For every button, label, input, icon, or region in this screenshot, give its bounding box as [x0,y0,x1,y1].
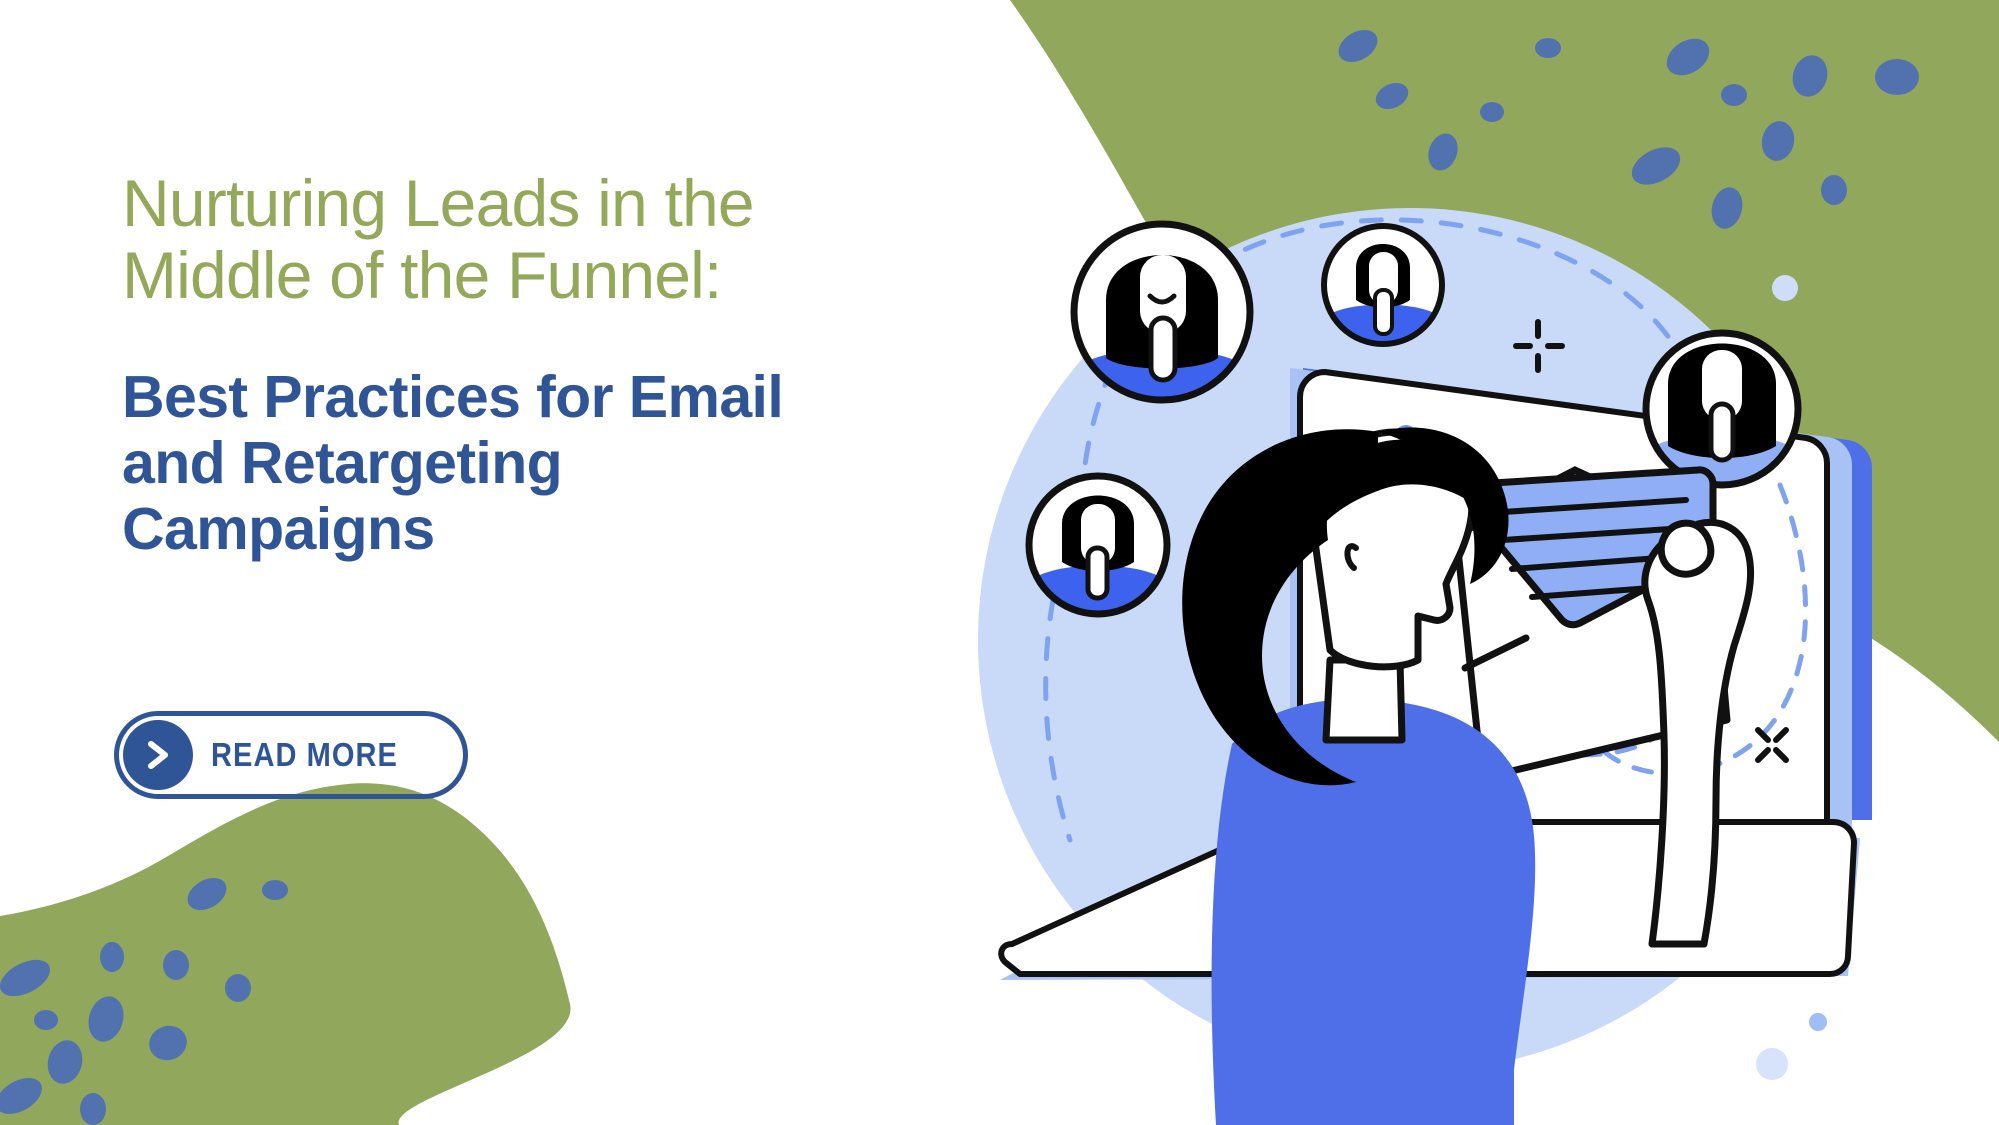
avatar-man-small [1029,476,1167,616]
avatar-woman-bob-smiling [1074,224,1250,404]
person-hand [1661,523,1711,574]
page-subtitle: Best Practices for Email and Retargeting… [122,312,982,562]
avatar-woman-long-hair [1646,333,1798,490]
headline-block: Nurturing Leads in the Middle of the Fun… [122,168,982,562]
woman-with-ponytail [1182,428,1750,1125]
read-more-button[interactable]: READ MORE [114,711,468,799]
avatar-man-short-hair [1324,226,1442,348]
chevron-right-icon [123,720,193,790]
person-neck [1326,660,1402,740]
page-title: Nurturing Leads in the Middle of the Fun… [122,168,982,312]
read-more-label: READ MORE [211,736,398,774]
promo-banner: Nurturing Leads in the Middle of the Fun… [0,0,1999,1125]
